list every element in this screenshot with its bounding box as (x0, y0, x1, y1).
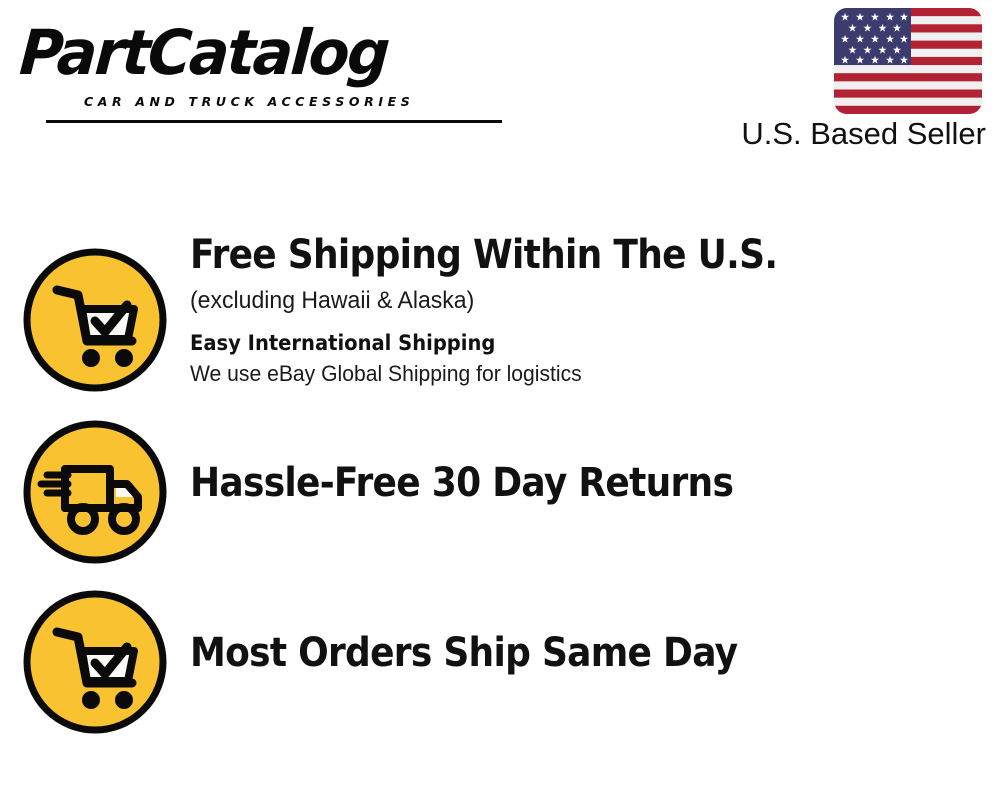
feature-text-block: Hassle-Free 30 Day Returns (190, 418, 1000, 506)
seller-badge: U.S. Based Seller (702, 8, 992, 152)
feature-item: Hassle-Free 30 Day Returns (0, 418, 1000, 566)
feature-text-block: Free Shipping Within The U.S. (excluding… (190, 232, 1000, 388)
page-header: PartCatalog CAR AND TRUCK ACCESSORIES (0, 0, 1000, 175)
feature-note: (excluding Hawaii & Alaska) (190, 286, 968, 316)
us-flag-icon (834, 8, 982, 114)
feature-heading: Most Orders Ship Same Day (190, 630, 919, 676)
brand-wordmark: PartCatalog (18, 22, 390, 84)
seller-badge-label: U.S. Based Seller (702, 116, 992, 152)
feature-sub-heading: Easy International Shipping (190, 330, 943, 357)
delivery-truck-icon (21, 418, 169, 566)
brand-logo[interactable]: PartCatalog CAR AND TRUCK ACCESSORIES (22, 22, 492, 114)
feature-icon-container (0, 232, 190, 394)
feature-icon-container (0, 418, 190, 566)
feature-sub-text: We use eBay Global Shipping for logistic… (190, 359, 968, 388)
feature-heading: Free Shipping Within The U.S. (190, 232, 919, 278)
feature-heading: Hassle-Free 30 Day Returns (190, 460, 919, 506)
brand-tagline: CAR AND TRUCK ACCESSORIES (84, 94, 414, 109)
shopping-cart-check-icon (21, 246, 169, 394)
feature-item: Free Shipping Within The U.S. (excluding… (0, 232, 1000, 394)
feature-item: Most Orders Ship Same Day (0, 588, 1000, 736)
feature-icon-container (0, 588, 190, 736)
shopping-cart-check-icon (21, 588, 169, 736)
feature-text-block: Most Orders Ship Same Day (190, 588, 1000, 676)
brand-underline-rule (46, 120, 502, 123)
